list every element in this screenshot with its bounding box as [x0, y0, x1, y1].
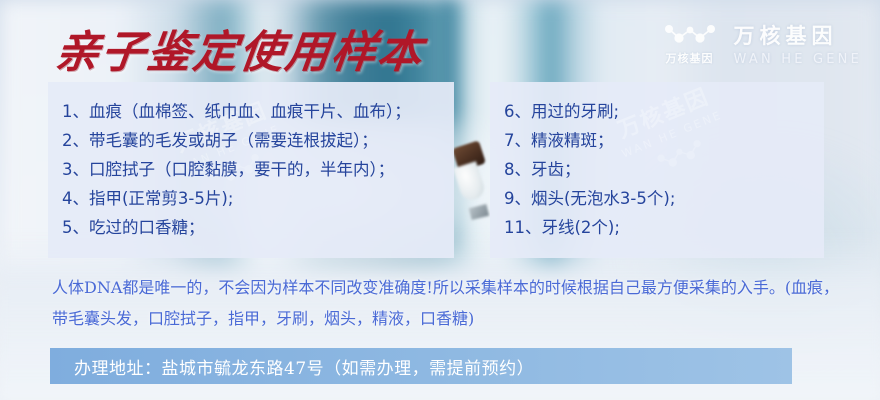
list-item: 6、用过的牙刷;: [504, 97, 824, 126]
poster-canvas: 亲子鉴定使用样本: [0, 0, 880, 400]
address-bar-text: 办理地址：盐城市毓龙东路47号（如需办理，需提前预约）: [50, 354, 534, 379]
explanatory-paragraph: 人体DNA都是唯一的，不会因为样本不同改变准确度!所以采集样本的时候根据自己最方…: [52, 272, 842, 334]
page-title: 亲子鉴定使用样本: [52, 16, 428, 80]
list-item: 8、牙齿；: [504, 155, 824, 184]
list-item: 7、精液精斑；: [504, 126, 824, 155]
sample-panel-left: 万核基因 WAN HE GENE: [48, 82, 454, 258]
background-vial: [452, 140, 488, 220]
list-item: 3、口腔拭子（口腔黏膜，要干的，半年内）；: [62, 155, 454, 184]
list-item: 11、牙线(2个);: [504, 213, 824, 242]
sample-list-right: 6、用过的牙刷; 7、精液精斑； 8、牙齿； 9、烟头(无泡水3-5个); 11…: [490, 82, 824, 242]
brand-mark: 万核基因: [662, 21, 718, 66]
list-item: 9、烟头(无泡水3-5个);: [504, 184, 824, 213]
sample-list-left: 1、血痕（血棉签、纸巾血、血痕干片、血布）； 2、带毛囊的毛发或胡子（需要连根拔…: [48, 82, 454, 242]
address-bar: 办理地址：盐城市毓龙东路47号（如需办理，需提前预约）: [50, 348, 792, 384]
vial-chip: [469, 204, 489, 220]
brand-name-en: WAN HE GENE: [734, 52, 862, 67]
list-item: 4、指甲(正常剪3-5片);: [62, 184, 454, 213]
brand-name-cn: 万核基因: [734, 20, 862, 50]
molecule-network-icon: [662, 21, 718, 47]
brand-mark-label: 万核基因: [666, 50, 714, 66]
vial-body: [453, 161, 487, 203]
list-item: 5、吃过的口香糖；: [62, 213, 454, 242]
sample-panel-right: 万核基因 WAN HE GENE: [490, 82, 824, 258]
list-item: 2、带毛囊的毛发或胡子（需要连根拔起）；: [62, 126, 454, 155]
brand-logo: 万核基因 万核基因 WAN HE GENE: [662, 20, 862, 67]
list-item: 1、血痕（血棉签、纸巾血、血痕干片、血布）；: [62, 97, 454, 126]
brand-wordmark: 万核基因 WAN HE GENE: [734, 20, 862, 67]
